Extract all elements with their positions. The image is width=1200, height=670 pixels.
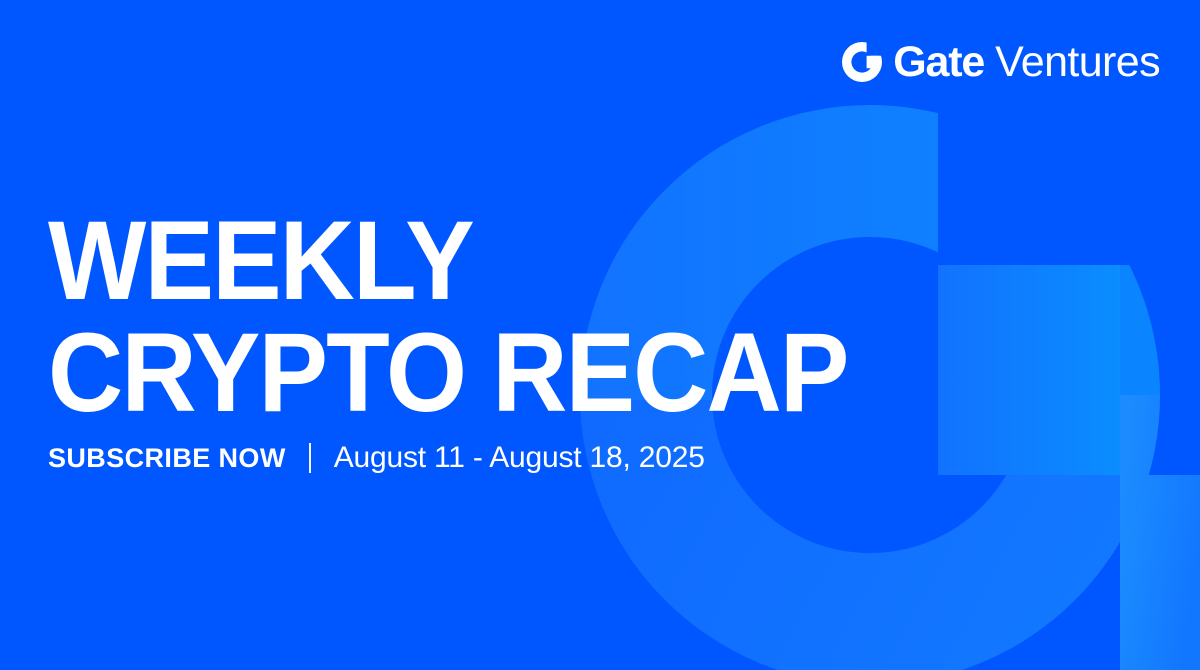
watermark-ring-lower-right xyxy=(1120,395,1200,670)
watermark-square-mid xyxy=(938,265,1120,475)
date-range-label: August 11 - August 18, 2025 xyxy=(334,443,705,473)
brand-wordmark: Gate Ventures xyxy=(893,41,1160,84)
headline-line-2: CRYPTO RECAP xyxy=(48,318,848,428)
gate-logo-mark-icon xyxy=(842,42,882,82)
brand-name-primary: Gate xyxy=(893,41,984,84)
page-title: WEEKLY CRYPTO RECAP xyxy=(48,206,908,428)
subtitle-row: SUBSCRIBE NOW August 11 - August 18, 202… xyxy=(48,443,705,473)
brand-lockup: Gate Ventures xyxy=(842,38,1160,86)
headline-line-1: WEEKLY xyxy=(48,206,848,316)
brand-name-secondary: Ventures xyxy=(995,41,1160,84)
weekly-crypto-recap-banner: Gate Ventures WEEKLY CRYPTO RECAP SUBSCR… xyxy=(0,0,1200,670)
subtitle-divider xyxy=(309,443,311,473)
subscribe-now-label[interactable]: SUBSCRIBE NOW xyxy=(48,445,286,472)
watermark-square-lower xyxy=(1120,475,1200,670)
